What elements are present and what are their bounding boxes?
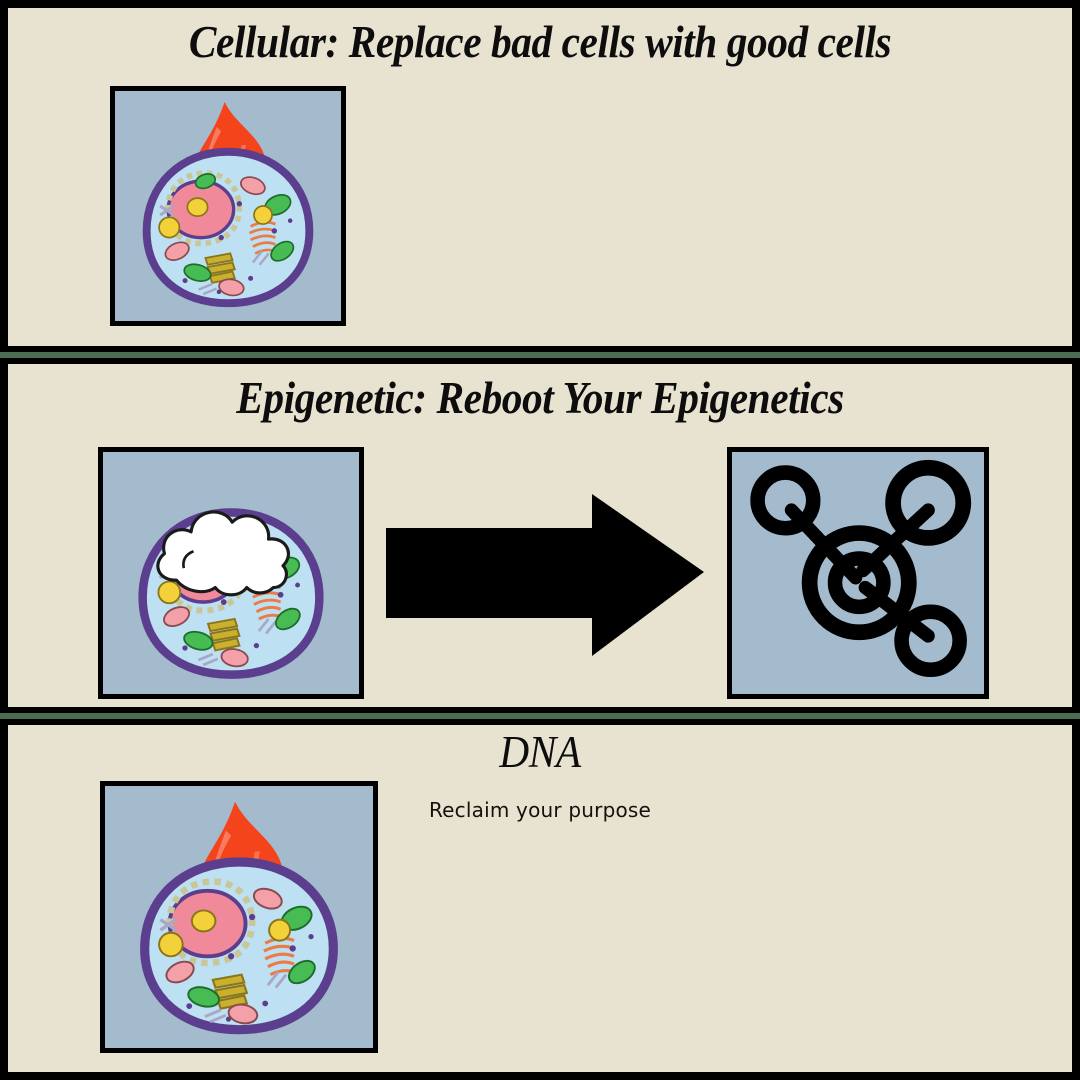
burning-cell-illustration	[105, 786, 373, 1048]
dna-cell-image	[100, 781, 378, 1053]
clouded-cell-illustration	[103, 452, 359, 694]
panel-divider-2	[0, 707, 1080, 725]
epigenetic-cell-image	[98, 447, 364, 699]
burning-cell-illustration	[115, 91, 341, 321]
panel-epigenetic-title: Epigenetic: Reboot Your Epigenetics	[43, 372, 1037, 424]
epigenetic-molecule-image	[727, 447, 989, 699]
panel-dna-title: DNA	[43, 726, 1037, 778]
transform-arrow	[386, 494, 704, 656]
divider-accent-stripe	[0, 352, 1080, 358]
right-arrow-icon	[386, 494, 704, 656]
panel-divider-1	[0, 346, 1080, 364]
cellular-cell-image	[110, 86, 346, 326]
poster-root: Cellular: Replace bad cells with good ce…	[0, 0, 1080, 1080]
panel-cellular-title: Cellular: Replace bad cells with good ce…	[43, 16, 1037, 68]
molecule-network-icon	[732, 452, 984, 694]
divider-accent-stripe	[0, 713, 1080, 719]
